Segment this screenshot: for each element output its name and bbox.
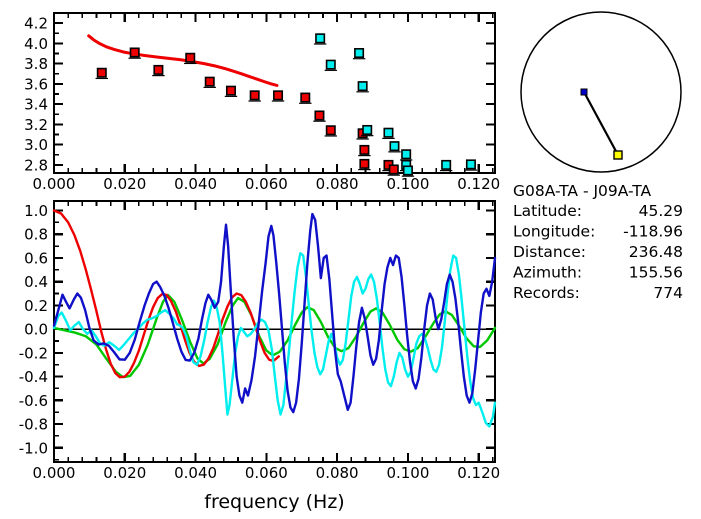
info-label-1: Longitude: [513,223,595,241]
bottom-y-ticklabel: 0.0 [24,321,48,339]
bottom-x-ticklabel: 0.000 [33,464,76,482]
red-measurements [98,69,106,77]
top-y-ticklabel: 3.4 [24,96,48,114]
cyan-measurements [363,126,371,134]
cyan-measurements [327,60,335,68]
red-measurements [154,66,162,74]
seismic-figure-svg: 0.0000.0200.0400.0600.0800.1000.1202.83.… [0,0,701,519]
top-x-ticklabel: 0.080 [316,175,359,193]
cyan-measurements [390,142,398,150]
red-measurements [274,91,282,99]
info-value-4: 774 [653,284,683,302]
model-curve [89,36,277,86]
info-value-3: 155.56 [629,264,683,282]
bottom-x-ticklabel: 0.040 [174,464,217,482]
bottom-y-ticklabel: -1.0 [19,439,48,457]
red-measurements [186,54,194,62]
bottom-y-ticklabel: 1.0 [24,202,48,220]
station-1-marker [581,89,587,95]
cyan-measurements [402,150,410,158]
bottom-y-ticklabel: -0.6 [19,392,48,410]
bottom-x-ticklabel: 0.020 [103,464,146,482]
info-value-1: -118.96 [623,223,683,241]
info-label-0: Latitude: [513,202,582,220]
bottom-x-ticklabel: 0.080 [316,464,359,482]
red-measurements [227,86,235,94]
figure-root: 0.0000.0200.0400.0600.0800.1000.1202.83.… [0,0,701,519]
top-y-ticklabel: 4.0 [24,35,48,53]
top-x-ticklabel: 0.000 [33,175,76,193]
top-x-ticklabel: 0.060 [245,175,288,193]
top-x-ticklabel: 0.120 [457,175,500,193]
station-2-marker [614,151,622,159]
info-value-0: 45.29 [639,202,683,220]
info-label-2: Distance: [513,243,586,261]
top-y-ticklabel: 2.8 [24,156,48,174]
bottom-x-ticklabel: 0.120 [457,464,500,482]
red-trace [54,210,279,377]
red-measurements [360,146,368,154]
x-axis-title: frequency (Hz) [204,491,344,513]
cyan-measurements [316,34,324,42]
station-path-line [584,92,618,155]
bottom-x-ticklabel: 0.060 [245,464,288,482]
bottom-y-ticklabel: 0.8 [24,226,48,244]
cyan-measurements [384,129,392,137]
top-x-ticklabel: 0.040 [174,175,217,193]
bottom-y-ticklabel: -0.2 [19,344,48,362]
azimuth-circle-outline [521,12,681,172]
top-y-ticklabel: 4.2 [24,15,48,33]
cyan-measurements [442,161,450,169]
red-measurements [315,111,323,119]
cyan-measurements [467,160,475,168]
top-y-ticklabel: 3.6 [24,75,48,93]
top-x-ticklabel: 0.100 [386,175,429,193]
bottom-y-ticklabel: -0.4 [19,368,48,386]
bottom-y-ticklabel: 0.6 [24,249,48,267]
top-x-ticklabel: 0.020 [103,175,146,193]
cyan-measurements [404,166,412,174]
top-y-ticklabel: 3.0 [24,136,48,154]
top-y-ticklabel: 3.2 [24,116,48,134]
red-measurements [360,160,368,168]
info-label-3: Azimuth: [513,264,582,282]
bottom-y-ticklabel: 0.4 [24,273,48,291]
bottom-x-ticklabel: 0.100 [386,464,429,482]
bottom-y-ticklabel: -0.8 [19,416,48,434]
info-value-2: 236.48 [629,243,683,261]
info-label-4: Records: [513,284,580,302]
station-pair-title: G08A-TA - J09A-TA [513,182,651,200]
cyan-measurements [358,82,366,90]
red-measurements [206,77,214,85]
red-measurements [327,126,335,134]
cyan-measurements [355,49,363,57]
red-measurements [250,91,258,99]
red-measurements [131,48,139,56]
bottom-y-ticklabel: 0.2 [24,297,48,315]
red-measurements [390,165,398,173]
cyan-trace [54,253,495,426]
red-measurements [301,93,309,101]
top-y-ticklabel: 3.8 [24,55,48,73]
